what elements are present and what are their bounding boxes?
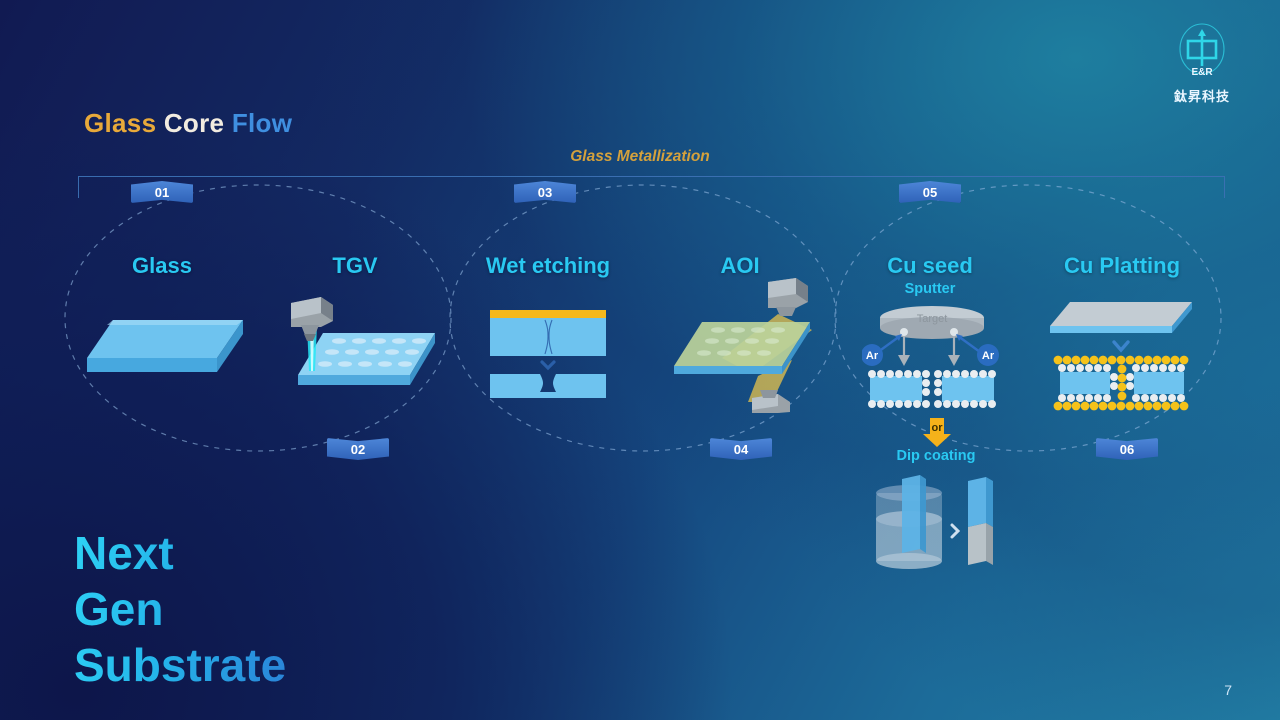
step-number-04: 04 [734, 442, 748, 457]
aoi-inspection-illustration [660, 278, 825, 418]
glass-slab-illustration [85, 316, 245, 387]
step-number-02: 02 [351, 442, 365, 457]
or-label: or [932, 422, 944, 434]
sputter-illustration: Target Ar Ar [862, 300, 1002, 417]
dip-coating-illustration [868, 475, 998, 585]
step-badge-02: 02 [327, 438, 389, 460]
step-badge-05: 05 [899, 181, 961, 203]
slide-canvas: E&R 鈦昇科技 Glass Core Flow Glass Metalliza… [0, 0, 1280, 720]
step-label-aoi: AOI [640, 253, 840, 279]
tgv-laser-illustration [275, 295, 440, 392]
step-label-cu-seed: Cu seed [830, 253, 1030, 279]
step-number-03: 03 [538, 185, 552, 200]
footer-heading-line-1: Next [74, 525, 286, 581]
page-number: 7 [1224, 682, 1232, 698]
sputter-target-label: Target [917, 313, 948, 325]
footer-heading: Next Gen Substrate [74, 525, 286, 693]
cu-seed-method-sputter: Sputter [855, 281, 1005, 297]
step-label-wet-etching: Wet etching [448, 253, 648, 279]
ar-label-right: Ar [982, 350, 995, 362]
step-label-tgv: TGV [255, 253, 455, 279]
aoi-camera-top [768, 278, 808, 316]
step-badge-06: 06 [1096, 438, 1158, 460]
footer-heading-line-2: Gen [74, 581, 286, 637]
step-badge-01: 01 [131, 181, 193, 203]
ar-label-left: Ar [866, 350, 879, 362]
step-number-05: 05 [923, 185, 937, 200]
cu-plating-illustration [1046, 300, 1196, 420]
wet-etching-illustration [490, 310, 608, 407]
cu-seed-method-dip-coating: Dip coating [861, 448, 1011, 464]
footer-heading-line-3: Substrate [74, 637, 286, 693]
step-number-01: 01 [155, 185, 169, 200]
step-label-glass: Glass [62, 253, 262, 279]
step-number-06: 06 [1120, 442, 1134, 457]
step-badge-03: 03 [514, 181, 576, 203]
step-label-cu-platting: Cu Platting [1022, 253, 1222, 279]
step-badge-04: 04 [710, 438, 772, 460]
